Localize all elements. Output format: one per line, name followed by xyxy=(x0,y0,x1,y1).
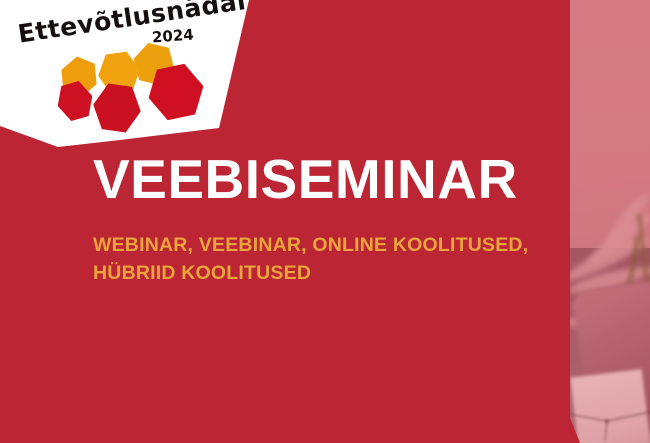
logo-panel: Ettevõtlusnädal 2024 xyxy=(0,0,252,150)
subtitle-line: WEBINAR, VEEBINAR, ONLINE KOOLITUSED, xyxy=(93,232,583,260)
page-title: VEEBISEMINAR xyxy=(93,152,518,207)
webinar-banner: Ettevõtlusnädal 2024 VEEBISEMINAR WEBINA… xyxy=(0,0,650,443)
wordmark-year-label: 2024 xyxy=(151,26,194,47)
subtitle-line: HÜBRIID KOOLITUSED xyxy=(93,260,583,288)
photo-color-tint xyxy=(565,0,650,443)
decorative-photo xyxy=(565,0,650,443)
ettevotlusnadal-wordmark: Ettevõtlusnädal xyxy=(16,0,248,49)
hex-red-middle-icon xyxy=(90,81,144,135)
subtitle: WEBINAR, VEEBINAR, ONLINE KOOLITUSED, HÜ… xyxy=(93,232,583,287)
wordmark-label: Ettevõtlusnädal xyxy=(16,0,248,49)
red-panel-edge xyxy=(556,0,570,443)
